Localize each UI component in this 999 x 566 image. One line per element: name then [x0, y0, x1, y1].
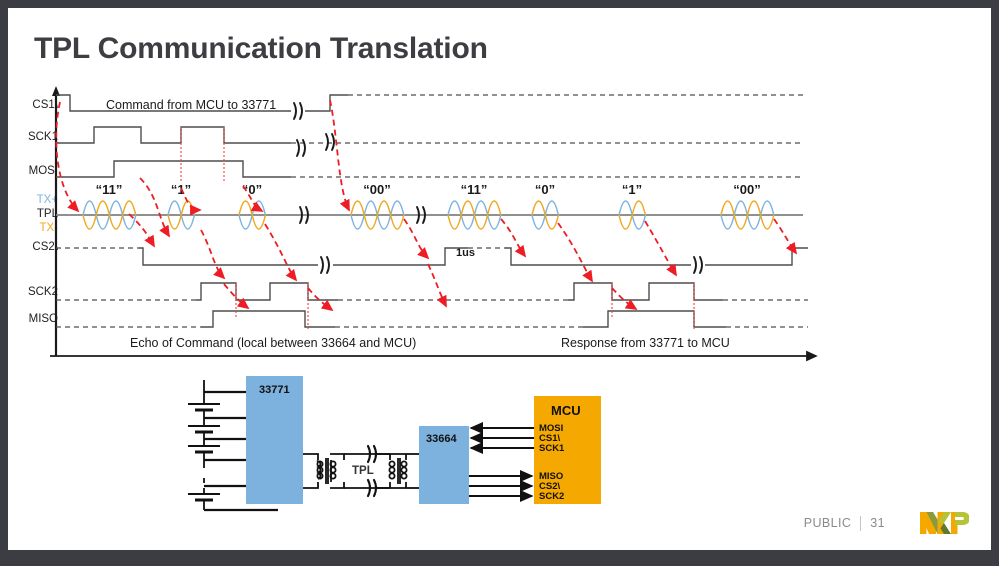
block-diagram-graphics — [158, 376, 638, 526]
block-diagram: 33771 33664 MCU TPL MOSI CS1\ SCK1 MISO … — [158, 376, 638, 526]
slide-canvas: TPL Communication Translation CS1\ SCK1 … — [8, 8, 991, 550]
footer-meta: PUBLIC 31 — [804, 516, 885, 531]
mcu-pin-sck1: SCK1 — [539, 443, 564, 454]
nxp-logo — [919, 510, 969, 536]
block-label-mcu: MCU — [551, 403, 581, 418]
block-label-33664: 33664 — [426, 433, 457, 445]
classification-label: PUBLIC — [804, 516, 852, 530]
timing-diagram: CS1\ SCK1 MOSI TX+ TPL TX- CS2\ SCK2 MIS… — [8, 78, 908, 378]
page-number: 31 — [870, 516, 885, 530]
tpl-label: TPL — [352, 465, 374, 477]
slide-footer: PUBLIC 31 — [804, 510, 969, 536]
footer-divider — [860, 516, 861, 531]
page-title: TPL Communication Translation — [34, 32, 488, 66]
block-label-33771: 33771 — [259, 384, 290, 396]
mcu-pin-sck2: SCK2 — [539, 491, 564, 502]
timing-traces — [8, 78, 908, 378]
